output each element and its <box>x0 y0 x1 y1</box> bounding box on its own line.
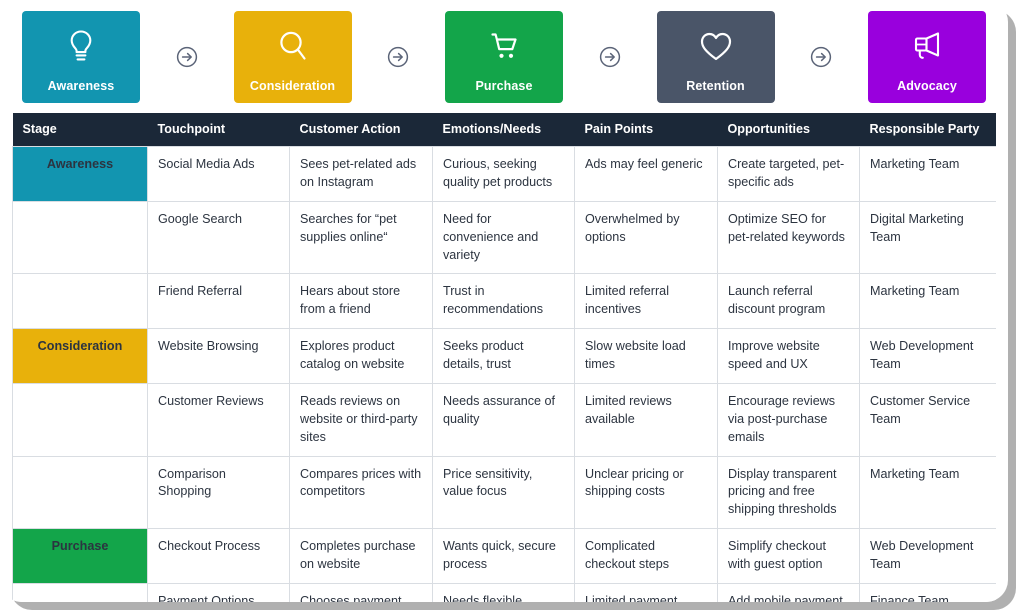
cell-pain: Complicated checkout steps <box>575 529 718 584</box>
column-header-touchpoint[interactable]: Touchpoint <box>148 113 290 147</box>
heart-icon <box>696 25 736 67</box>
cell-responsible: Marketing Team <box>860 274 997 329</box>
cell-touchpoint: Customer Reviews <box>148 383 290 456</box>
arrow-right-circle-icon <box>563 11 657 103</box>
table-header-row: StageTouchpointCustomer ActionEmotions/N… <box>13 113 997 147</box>
journey-table-scroll[interactable]: StageTouchpointCustomer ActionEmotions/N… <box>12 113 996 602</box>
cell-pain: Limited reviews available <box>575 383 718 456</box>
table-row: Customer ReviewsReads reviews on website… <box>13 383 997 456</box>
cell-touchpoint: Payment Options <box>148 583 290 602</box>
column-header-stage[interactable]: Stage <box>13 113 148 147</box>
column-header-responsible-party[interactable]: Responsible Party <box>860 113 997 147</box>
cell-opportunity: Add mobile payment <box>718 583 860 602</box>
table-row: ConsiderationWebsite BrowsingExplores pr… <box>13 329 997 384</box>
journey-table: StageTouchpointCustomer ActionEmotions/N… <box>12 113 996 602</box>
cell-opportunity: Launch referral discount program <box>718 274 860 329</box>
cell-emotions: Price sensitivity, value focus <box>433 456 575 529</box>
cell-pain: Ads may feel generic <box>575 147 718 202</box>
table-header: StageTouchpointCustomer ActionEmotions/N… <box>13 113 997 147</box>
cell-touchpoint: Website Browsing <box>148 329 290 384</box>
cell-pain: Limited referral incentives <box>575 274 718 329</box>
stage-strip: AwarenessConsiderationPurchaseRetentionA… <box>0 0 1008 113</box>
cell-responsible: Marketing Team <box>860 456 997 529</box>
stage-card-purchase[interactable]: Purchase <box>445 11 563 103</box>
cell-action: Reads reviews on website or third-party … <box>290 383 433 456</box>
column-header-emotions-needs[interactable]: Emotions/Needs <box>433 113 575 147</box>
column-header-opportunities[interactable]: Opportunities <box>718 113 860 147</box>
stage-card-label: Awareness <box>22 80 140 93</box>
cell-pain: Limited payment <box>575 583 718 602</box>
table-row: AwarenessSocial Media AdsSees pet-relate… <box>13 147 997 202</box>
table-row: Google SearchSearches for “pet supplies … <box>13 201 997 274</box>
customer-journey-map: AwarenessConsiderationPurchaseRetentionA… <box>0 0 1024 615</box>
column-header-customer-action[interactable]: Customer Action <box>290 113 433 147</box>
stage-card-awareness[interactable]: Awareness <box>22 11 140 103</box>
cell-touchpoint: Comparison Shopping <box>148 456 290 529</box>
stage-cell-empty <box>13 583 148 602</box>
table-body: AwarenessSocial Media AdsSees pet-relate… <box>13 147 997 603</box>
cell-emotions: Need for convenience and variety <box>433 201 575 274</box>
stage-cell-empty <box>13 383 148 456</box>
cell-action: Searches for “pet supplies online“ <box>290 201 433 274</box>
cell-pain: Unclear pricing or shipping costs <box>575 456 718 529</box>
stage-card-label: Retention <box>657 80 775 93</box>
arrow-right-circle-icon <box>775 11 869 103</box>
cell-touchpoint: Friend Referral <box>148 274 290 329</box>
arrow-right-circle-icon <box>352 11 446 103</box>
megaphone-icon <box>907 25 947 67</box>
cell-emotions: Needs flexible, secure <box>433 583 575 602</box>
cell-responsible: Customer Service Team <box>860 383 997 456</box>
table-row: Friend ReferralHears about store from a … <box>13 274 997 329</box>
table-row: Comparison ShoppingCompares prices with … <box>13 456 997 529</box>
cell-action: Sees pet-related ads on Instagram <box>290 147 433 202</box>
stage-cell-empty <box>13 456 148 529</box>
cell-responsible: Digital Marketing Team <box>860 201 997 274</box>
stage-cell-empty <box>13 274 148 329</box>
stage-card-label: Purchase <box>445 80 563 93</box>
cell-responsible: Marketing Team <box>860 147 997 202</box>
cell-opportunity: Create targeted, pet-specific ads <box>718 147 860 202</box>
stage-card-retention[interactable]: Retention <box>657 11 775 103</box>
cell-opportunity: Display transparent pricing and free shi… <box>718 456 860 529</box>
stage-card-label: Consideration <box>234 80 352 93</box>
cart-icon <box>484 25 524 67</box>
stage-cell: Purchase <box>13 529 148 584</box>
stage-cell-empty <box>13 201 148 274</box>
cell-emotions: Trust in recommendations <box>433 274 575 329</box>
cell-touchpoint: Google Search <box>148 201 290 274</box>
cell-touchpoint: Social Media Ads <box>148 147 290 202</box>
cell-emotions: Seeks product details, trust <box>433 329 575 384</box>
cell-action: Explores product catalog on website <box>290 329 433 384</box>
cell-opportunity: Optimize SEO for pet-related keywords <box>718 201 860 274</box>
search-icon <box>273 25 313 67</box>
journey-card: AwarenessConsiderationPurchaseRetentionA… <box>0 0 1008 602</box>
cell-touchpoint: Checkout Process <box>148 529 290 584</box>
cell-emotions: Curious, seeking quality pet products <box>433 147 575 202</box>
cell-opportunity: Improve website speed and UX <box>718 329 860 384</box>
column-header-pain-points[interactable]: Pain Points <box>575 113 718 147</box>
cell-pain: Slow website load times <box>575 329 718 384</box>
cell-emotions: Wants quick, secure process <box>433 529 575 584</box>
cell-action: Completes purchase on website <box>290 529 433 584</box>
cell-opportunity: Simplify checkout with guest option <box>718 529 860 584</box>
cell-action: Hears about store from a friend <box>290 274 433 329</box>
stage-cell: Awareness <box>13 147 148 202</box>
stage-card-advocacy[interactable]: Advocacy <box>868 11 986 103</box>
stage-card-consideration[interactable]: Consideration <box>234 11 352 103</box>
cell-responsible: Finance Team <box>860 583 997 602</box>
cell-pain: Overwhelmed by options <box>575 201 718 274</box>
cell-opportunity: Encourage reviews via post-purchase emai… <box>718 383 860 456</box>
lightbulb-icon <box>61 25 101 67</box>
stage-card-label: Advocacy <box>868 80 986 93</box>
arrow-right-circle-icon <box>140 11 234 103</box>
table-row: Payment OptionsChooses paymentNeeds flex… <box>13 583 997 602</box>
table-row: PurchaseCheckout ProcessCompletes purcha… <box>13 529 997 584</box>
cell-action: Chooses payment <box>290 583 433 602</box>
cell-responsible: Web Development Team <box>860 529 997 584</box>
cell-emotions: Needs assurance of quality <box>433 383 575 456</box>
cell-action: Compares prices with competitors <box>290 456 433 529</box>
stage-cell: Consideration <box>13 329 148 384</box>
cell-responsible: Web Development Team <box>860 329 997 384</box>
